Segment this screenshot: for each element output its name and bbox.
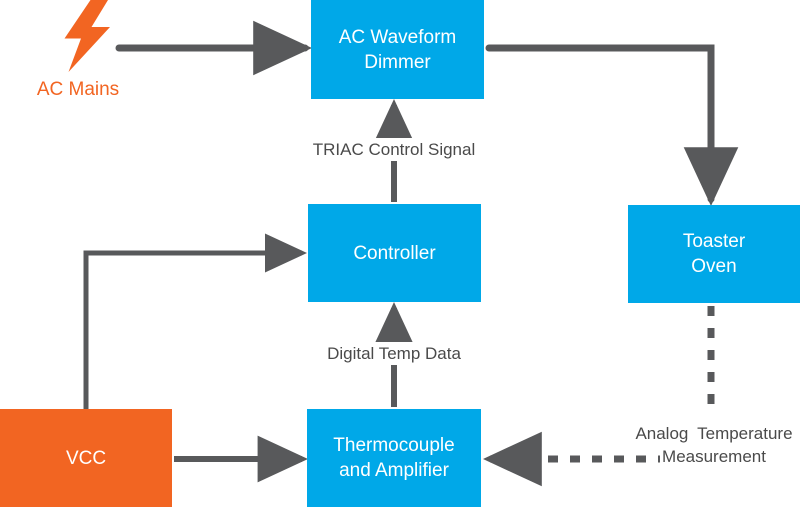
block-diagram-canvas: AC Mains AC Waveform Dimmer Controller T… (0, 0, 800, 507)
edge-label-analog-line3: Measurement (660, 445, 768, 468)
wire-vcc-to-controller (86, 253, 302, 410)
block-ac-waveform-dimmer-label-line1: AC Waveform (339, 25, 457, 50)
block-vcc-label-line1: VCC (66, 446, 106, 471)
block-ac-waveform-dimmer-label-line2: Dimmer (339, 50, 457, 75)
block-ac-waveform-dimmer-label: AC Waveform Dimmer (339, 25, 457, 75)
block-toaster-oven-label: Toaster Oven (683, 229, 745, 279)
block-controller[interactable]: Controller (308, 204, 481, 302)
edge-label-triac-control-signal: TRIAC Control Signal (276, 138, 512, 161)
block-vcc[interactable]: VCC (0, 409, 172, 507)
edge-label-analog-line2: Temperature (695, 422, 794, 445)
edge-label-triac-text: TRIAC Control Signal (310, 138, 479, 161)
ac-mains-label: AC Mains (22, 78, 134, 102)
block-toaster-oven[interactable]: Toaster Oven (628, 205, 800, 303)
block-vcc-label: VCC (66, 446, 106, 471)
lightning-bolt-icon (60, 0, 116, 72)
edge-label-digital-temp-data: Digital Temp Data (286, 342, 502, 365)
block-thermocouple-label-line1: Thermocouple (333, 433, 454, 458)
block-ac-waveform-dimmer[interactable]: AC Waveform Dimmer (311, 0, 484, 99)
block-toaster-oven-label-line2: Oven (683, 254, 745, 279)
block-thermocouple-and-amplifier-label: Thermocouple and Amplifier (333, 433, 454, 483)
block-thermocouple-and-amplifier[interactable]: Thermocouple and Amplifier (307, 409, 481, 507)
edge-label-analog-temperature-measurement: Analog Temperature Measurement (630, 422, 798, 468)
block-thermocouple-label-line2: and Amplifier (333, 458, 454, 483)
block-toaster-oven-label-line1: Toaster (683, 229, 745, 254)
edge-label-analog-line1: Analog (633, 422, 690, 445)
wire-dimmer-to-oven (489, 48, 711, 199)
block-controller-label: Controller (353, 241, 435, 266)
block-controller-label-line1: Controller (353, 241, 435, 266)
edge-label-digital-temp-text: Digital Temp Data (324, 342, 464, 365)
